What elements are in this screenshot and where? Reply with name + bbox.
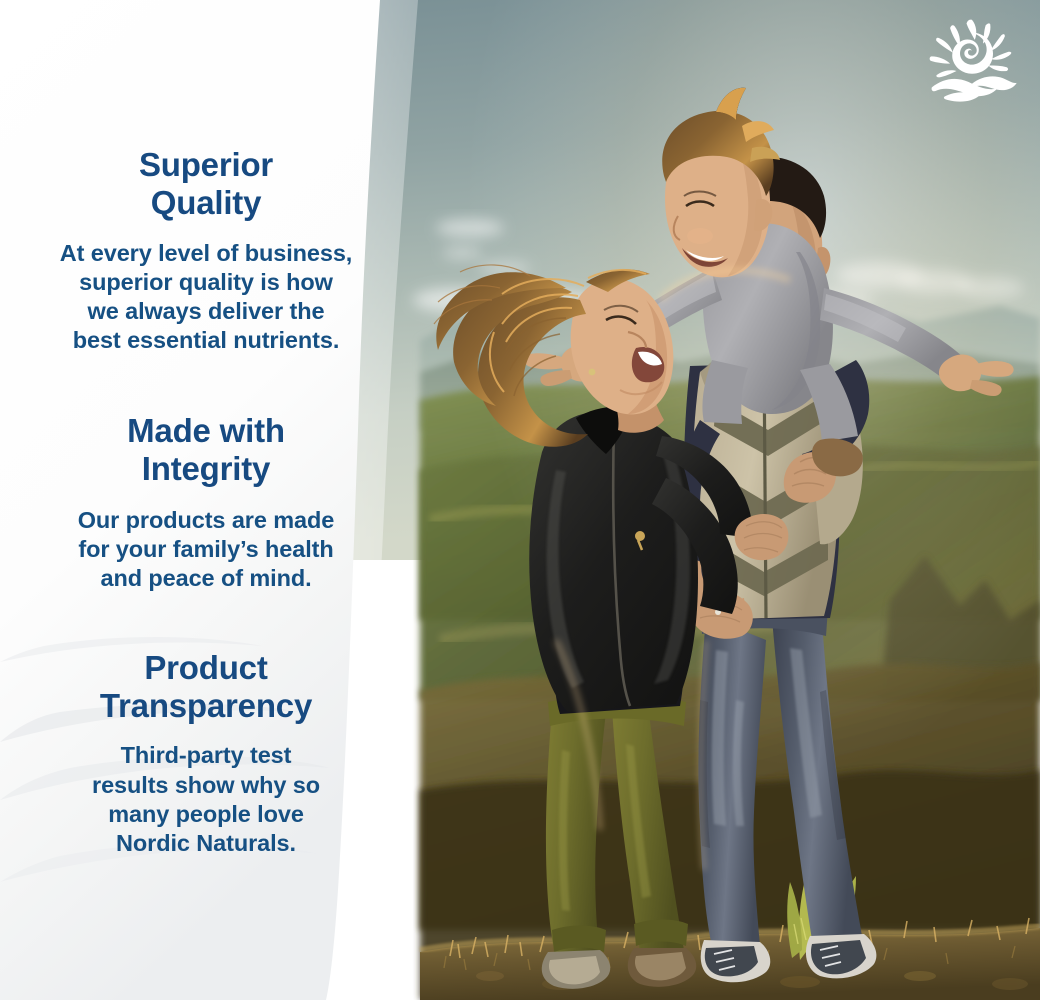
value-body: Third-party test results show why so man… xyxy=(36,741,376,858)
value-block-product-transparency: Product Transparency Third-party test re… xyxy=(36,649,376,858)
value-heading: Superior Quality xyxy=(36,146,376,223)
value-block-superior-quality: Superior Quality At every level of busin… xyxy=(36,146,376,355)
value-body: At every level of business, superior qua… xyxy=(36,239,376,356)
value-heading: Product Transparency xyxy=(36,649,376,726)
value-block-made-with-integrity: Made with Integrity Our products are mad… xyxy=(36,412,376,593)
value-heading: Made with Integrity xyxy=(36,412,376,489)
value-body: Our products are made for your family’s … xyxy=(36,506,376,593)
sun-waves-logo-icon xyxy=(926,18,1018,102)
brand-values-banner: Superior Quality At every level of busin… xyxy=(0,0,1040,1000)
nordic-naturals-logo xyxy=(926,18,1018,102)
values-text-column: Superior Quality At every level of busin… xyxy=(0,0,412,1000)
